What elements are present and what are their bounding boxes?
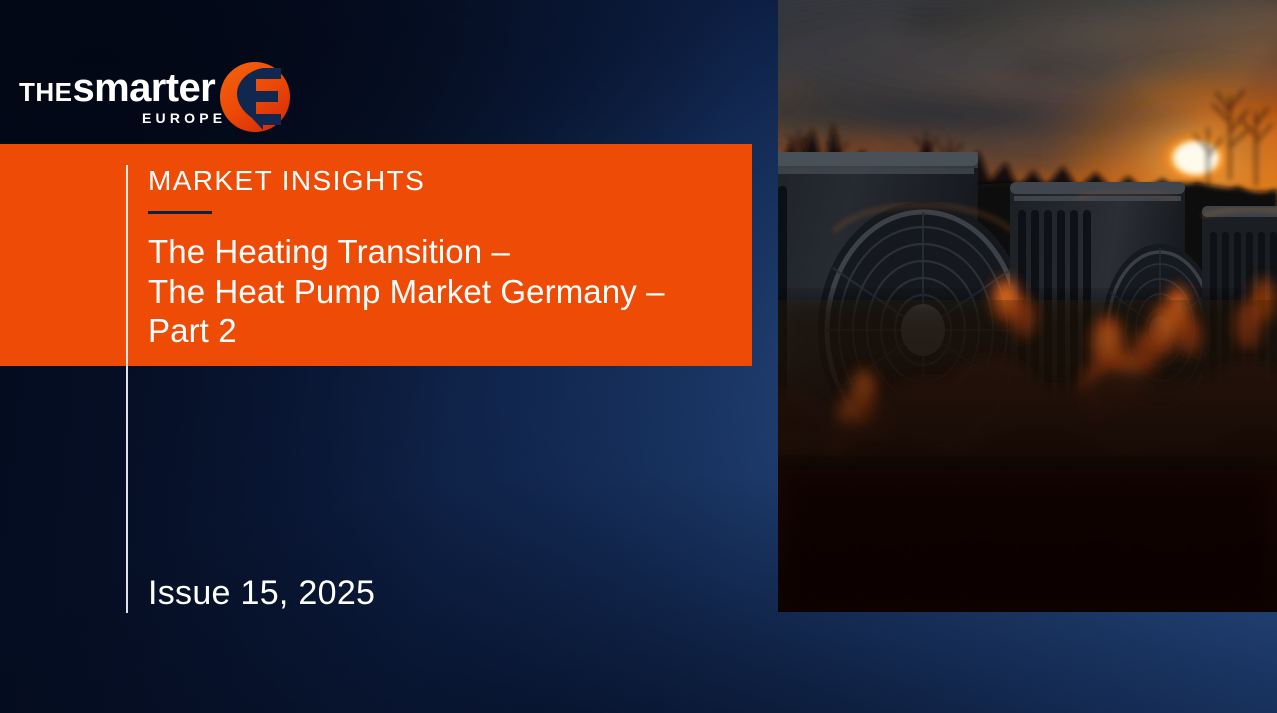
slide-canvas: THEsmarter EUROPE MARKET INSIGHTS The He… — [0, 0, 1277, 713]
page-title-line-1: The Heating Transition – — [148, 232, 723, 272]
brand-word-smarter: smarter — [73, 66, 216, 110]
smarter-e-circle-icon — [210, 52, 300, 142]
page-title-line-2: The Heat Pump Market Germany – — [148, 272, 723, 312]
issue-label: Issue 15, 2025 — [148, 574, 375, 613]
hero-photo — [778, 0, 1277, 612]
page-title: The Heating Transition – The Heat Pump M… — [148, 232, 723, 351]
brand-word-the: THE — [19, 77, 73, 107]
brand-logo[interactable]: THEsmarter EUROPE — [19, 62, 294, 132]
page-title-line-3: Part 2 — [148, 311, 723, 351]
kicker-underline — [148, 211, 212, 214]
vertical-divider — [126, 165, 128, 613]
heat-pump-sunset-photo — [778, 0, 1277, 612]
brand-wordmark: THEsmarter — [19, 68, 215, 108]
kicker-label: MARKET INSIGHTS — [148, 164, 425, 198]
